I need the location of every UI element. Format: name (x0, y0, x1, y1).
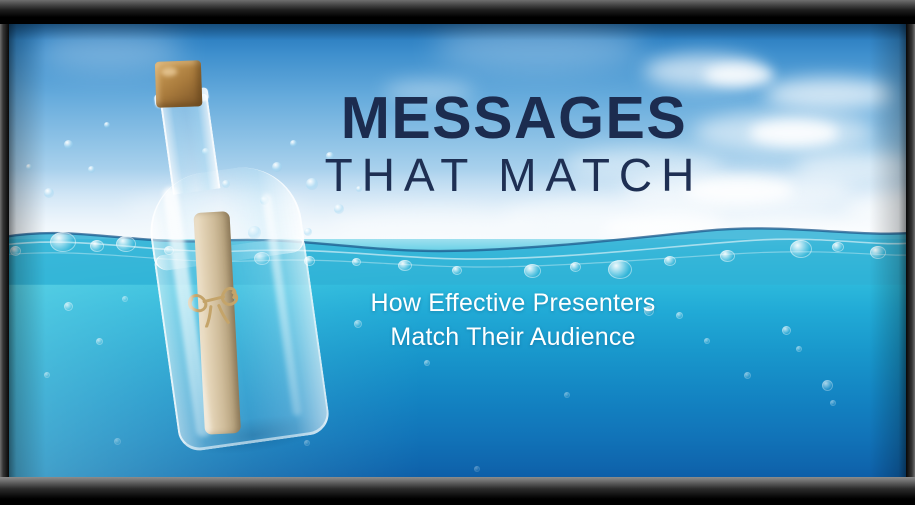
subtitle-line-1: How Effective Presenters (313, 286, 713, 320)
page-title-secondary: THAT MATCH (324, 150, 704, 200)
page-title-primary: MESSAGES (324, 88, 704, 148)
presentation-title-slide: MESSAGES THAT MATCH How Effective Presen… (0, 0, 915, 505)
title-text-block: MESSAGES THAT MATCH How Effective Presen… (0, 0, 915, 505)
subtitle-line-2: Match Their Audience (313, 320, 713, 354)
subtitle-block: How Effective Presenters Match Their Aud… (313, 286, 713, 354)
